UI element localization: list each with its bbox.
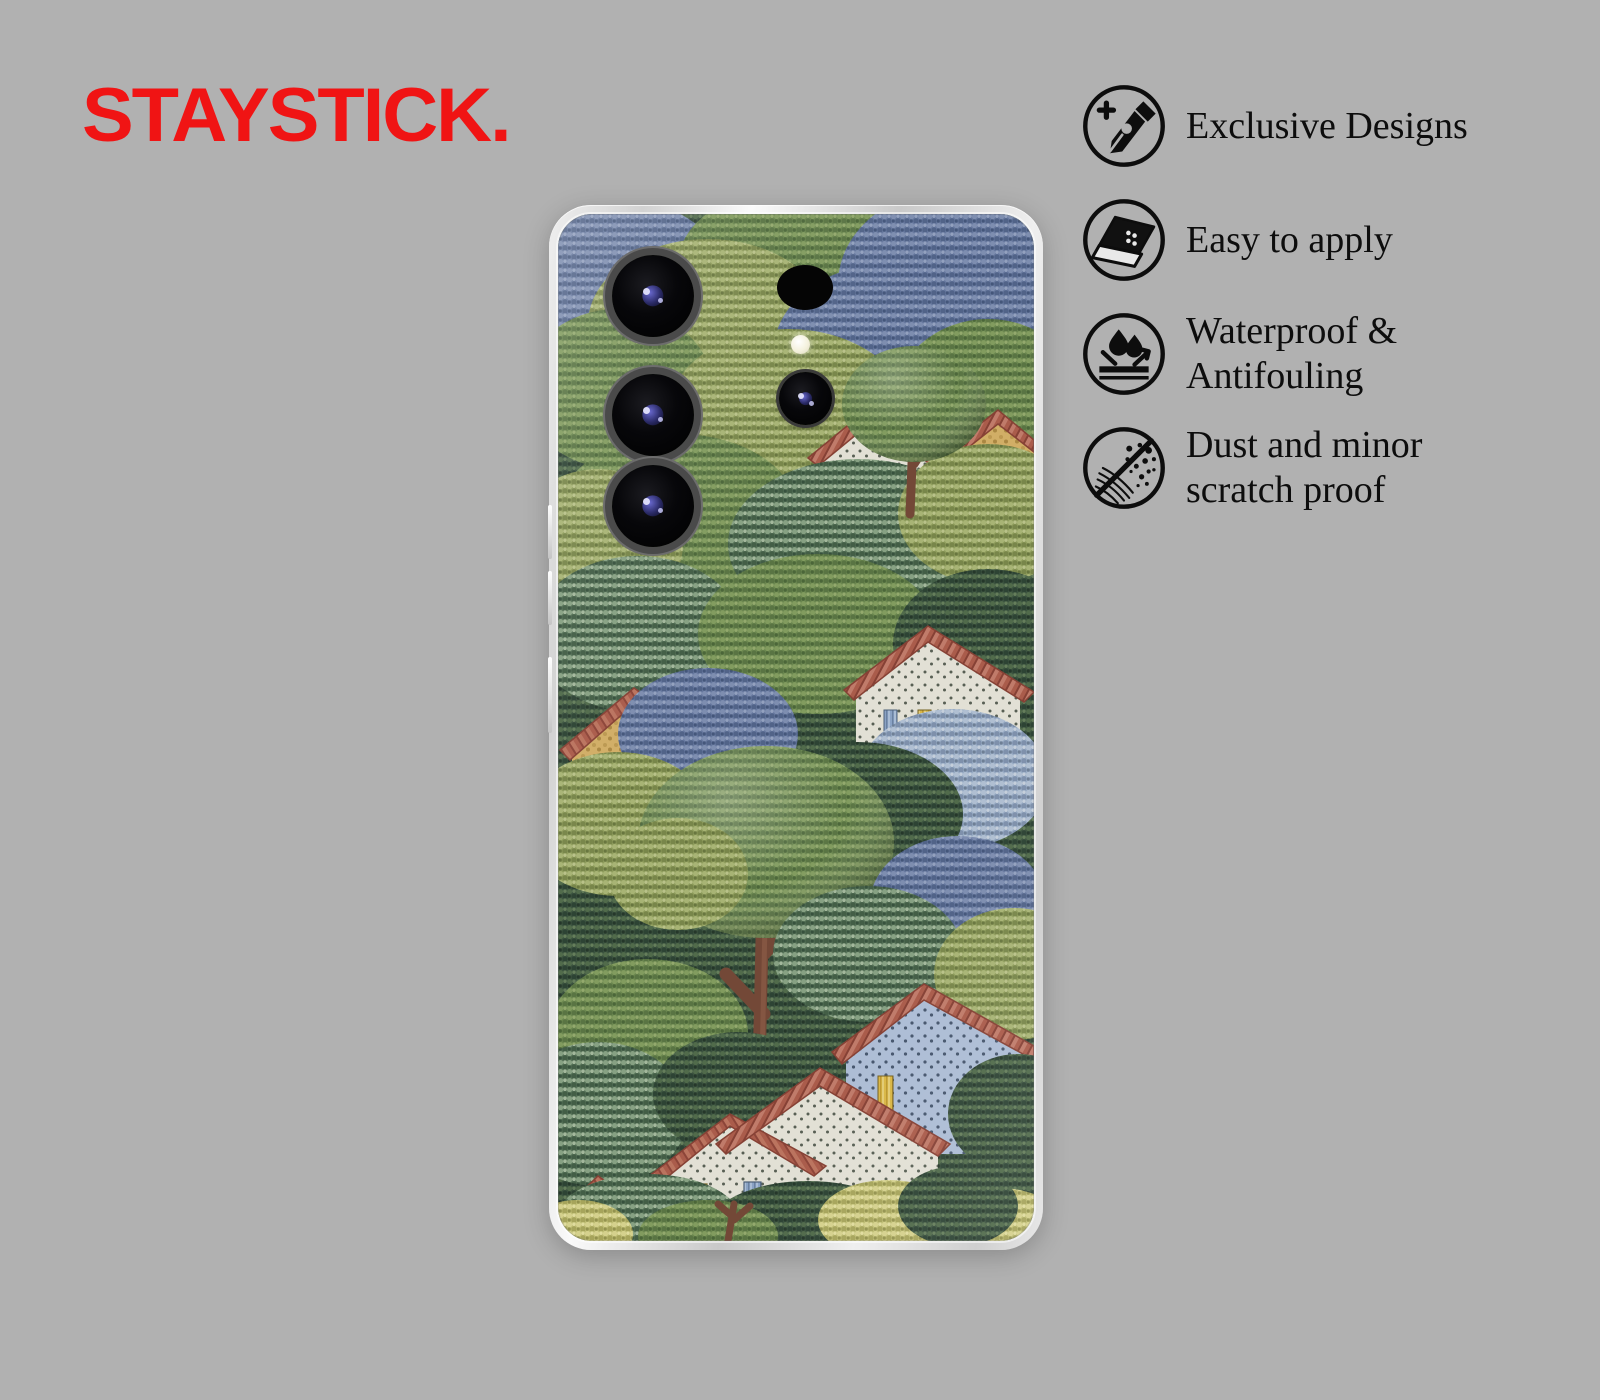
feature-label: Easy to apply bbox=[1186, 218, 1393, 263]
product-marketing-image: STAYSTICK. Exclusive Designs bbox=[0, 0, 1600, 1400]
feature-item-easy-to-apply: Easy to apply bbox=[1080, 194, 1580, 286]
feature-list: Exclusive Designs Easy to apply bbox=[1080, 80, 1580, 536]
side-button-power[interactable] bbox=[548, 657, 552, 733]
side-button-volume-down[interactable] bbox=[548, 571, 552, 625]
waterproof-droplets-icon bbox=[1080, 310, 1168, 398]
feature-item-waterproof: Waterproof & Antifouling bbox=[1080, 308, 1580, 400]
feature-label: Exclusive Designs bbox=[1186, 104, 1468, 149]
feature-item-dust-scratch-proof: Dust and minor scratch proof bbox=[1080, 422, 1580, 514]
dust-scratch-proof-icon bbox=[1080, 424, 1168, 512]
laptop-icon bbox=[1080, 196, 1168, 284]
pen-nib-plus-icon bbox=[1080, 82, 1168, 170]
phone-skin-mockup[interactable] bbox=[549, 205, 1043, 1250]
feature-label: Waterproof & Antifouling bbox=[1186, 309, 1580, 399]
feature-label: Dust and minor scratch proof bbox=[1186, 423, 1422, 513]
feature-item-exclusive-designs: Exclusive Designs bbox=[1080, 80, 1580, 172]
brand-logo: STAYSTICK. bbox=[82, 78, 510, 154]
pointillist-village-artwork bbox=[558, 214, 1034, 1241]
phone-skin-artwork bbox=[558, 214, 1034, 1241]
side-button-volume-up[interactable] bbox=[548, 505, 552, 559]
